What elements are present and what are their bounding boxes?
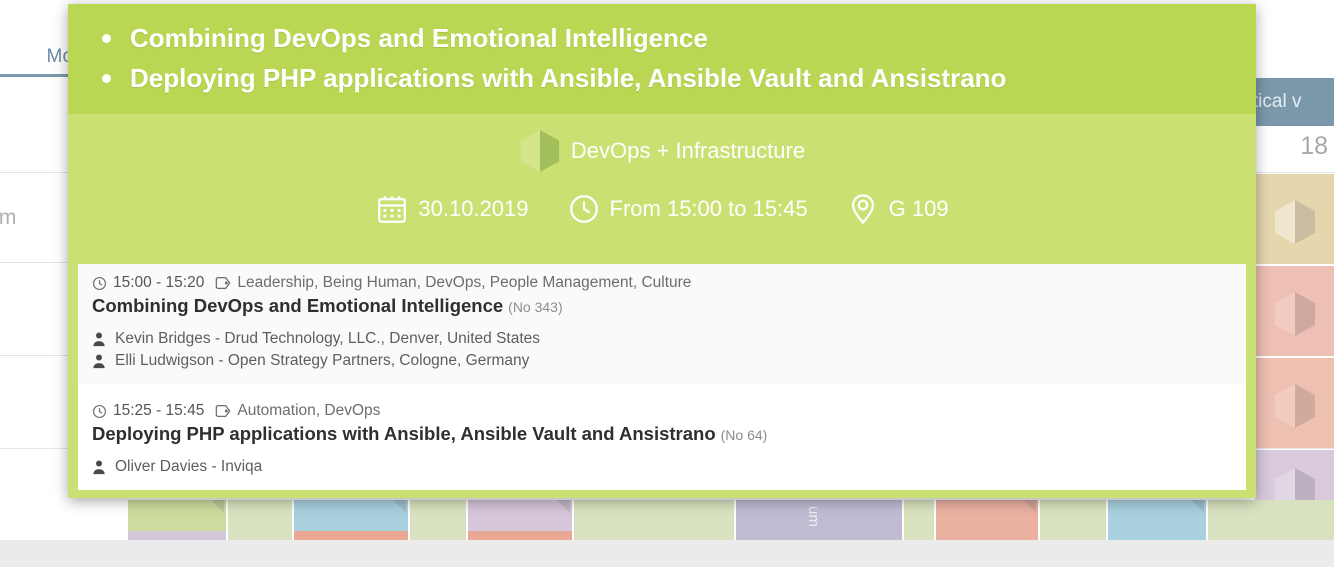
person-icon	[92, 354, 106, 369]
overlay-date: 30.10.2019	[375, 192, 528, 226]
cube-icon	[1273, 382, 1317, 430]
session-tags: Automation, DevOps	[237, 402, 380, 420]
overlay-room-text: G 109	[889, 196, 949, 222]
tag-icon	[215, 404, 231, 418]
session-speakers: Kevin Bridges - Drud Technology, LLC., D…	[92, 328, 1232, 372]
session-list-item[interactable]: 15:25 - 15:45 Automation, DevOps Deployi…	[78, 392, 1246, 490]
session-detail-overlay: Combining DevOps and Emotional Intellige…	[68, 4, 1256, 498]
person-icon	[92, 332, 106, 347]
overlay-headline-item: Combining DevOps and Emotional Intellige…	[92, 18, 1232, 58]
schedule-block[interactable]	[1255, 174, 1334, 264]
schedule-block[interactable]	[1108, 500, 1206, 540]
tag-icon	[215, 276, 231, 290]
session-number: (No 343)	[508, 299, 562, 315]
screen-root: Mon ertical v 18 torium 2 3 4	[0, 0, 1334, 567]
schedule-block[interactable]	[1040, 500, 1106, 540]
schedule-block[interactable]	[128, 531, 226, 540]
session-title-row: Combining DevOps and Emotional Intellige…	[92, 295, 1232, 317]
page-footer-space	[0, 540, 1334, 567]
corner-notch-icon	[1191, 500, 1204, 513]
overlay-track-name: DevOps + Infrastructure	[571, 138, 805, 164]
overlay-headline-item: Deploying PHP applications with Ansible,…	[92, 58, 1232, 98]
room-label-auditorium: torium	[0, 206, 16, 230]
schedule-block[interactable]	[1255, 358, 1334, 448]
person-icon	[92, 460, 106, 475]
session-time: 15:00 - 15:20	[113, 274, 204, 292]
corner-notch-icon	[557, 500, 570, 513]
session-speakers: Oliver Davies - Inviqa	[92, 456, 1232, 478]
corner-notch-icon	[1023, 500, 1036, 513]
session-tags: Leadership, Being Human, DevOps, People …	[237, 274, 691, 292]
schedule-block[interactable]	[904, 500, 934, 540]
schedule-block[interactable]	[936, 500, 1038, 540]
corner-notch-icon	[393, 500, 406, 513]
schedule-block[interactable]	[1208, 500, 1334, 540]
speaker-name: Elli Ludwigson - Open Strategy Partners,…	[115, 350, 529, 372]
overlay-meta: DevOps + Infrastructure	[68, 114, 1256, 248]
corner-notch-icon	[211, 500, 224, 513]
calendar-icon	[375, 192, 409, 226]
session-list-item[interactable]: 15:00 - 15:20 Leadership, Being Human, D…	[78, 264, 1246, 384]
session-time: 15:25 - 15:45	[113, 402, 204, 420]
tab-active-underline	[0, 74, 68, 77]
session-meta: 15:00 - 15:20 Leadership, Being Human, D…	[92, 274, 1232, 292]
schedule-bottom-row: um	[0, 500, 1334, 540]
overlay-time: From 15:00 to 15:45	[567, 192, 808, 226]
speaker-name: Oliver Davies - Inviqa	[115, 456, 262, 478]
speaker-name: Kevin Bridges - Drud Technology, LLC., D…	[115, 328, 540, 350]
schedule-block[interactable]	[1255, 266, 1334, 356]
overlay-headline: Combining DevOps and Emotional Intellige…	[68, 4, 1256, 114]
cube-icon	[1273, 198, 1317, 246]
time-axis-label: 18	[1300, 132, 1328, 161]
schedule-block[interactable]	[410, 500, 466, 540]
session-list: 15:00 - 15:20 Leadership, Being Human, D…	[78, 264, 1246, 490]
cube-icon	[1273, 290, 1317, 338]
cube-icon	[519, 128, 561, 174]
schedule-block[interactable]	[574, 500, 734, 540]
session-title: Deploying PHP applications with Ansible,…	[92, 423, 716, 444]
clock-icon	[92, 404, 107, 419]
overlay-room: G 109	[846, 192, 949, 226]
session-number: (No 64)	[721, 427, 768, 443]
speaker-row: Elli Ludwigson - Open Strategy Partners,…	[92, 350, 1232, 372]
schedule-block[interactable]: um	[736, 500, 902, 540]
schedule-block[interactable]	[468, 531, 572, 540]
overlay-headline-list: Combining DevOps and Emotional Intellige…	[92, 18, 1232, 98]
session-title: Combining DevOps and Emotional Intellige…	[92, 295, 503, 316]
schedule-block[interactable]	[294, 531, 408, 540]
speaker-row: Kevin Bridges - Drud Technology, LLC., D…	[92, 328, 1232, 350]
schedule-block[interactable]	[228, 500, 292, 540]
overlay-meta-line: 30.10.2019 From 15:00 to 15:45	[68, 192, 1256, 226]
vertical-room-label: um	[805, 506, 822, 527]
session-meta: 15:25 - 15:45 Automation, DevOps	[92, 402, 1232, 420]
session-title-row: Deploying PHP applications with Ansible,…	[92, 423, 1232, 445]
clock-icon	[567, 192, 601, 226]
speaker-row: Oliver Davies - Inviqa	[92, 456, 1232, 478]
location-pin-icon	[846, 192, 880, 226]
overlay-date-text: 30.10.2019	[418, 196, 528, 222]
clock-icon	[92, 276, 107, 291]
overlay-track: DevOps + Infrastructure	[68, 128, 1256, 174]
overlay-time-text: From 15:00 to 15:45	[610, 196, 808, 222]
